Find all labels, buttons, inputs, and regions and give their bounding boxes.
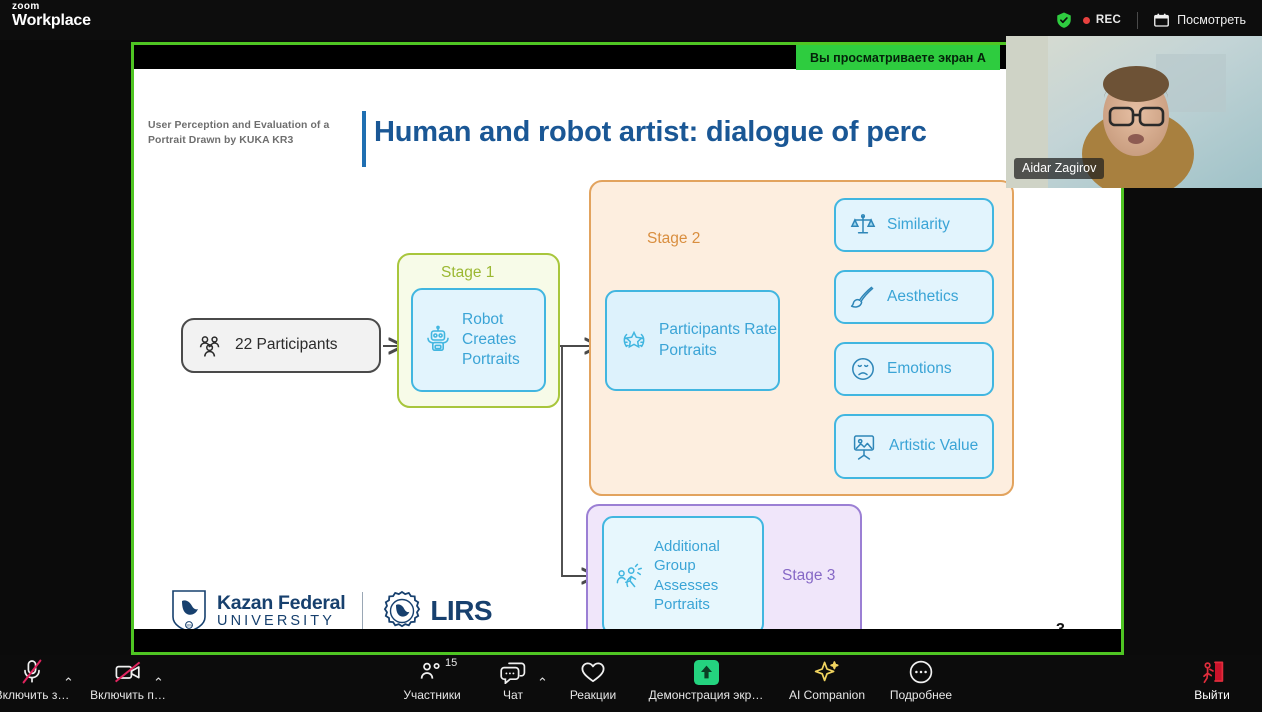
metric-label: Emotions: [887, 359, 952, 379]
leave-meeting-button[interactable]: Выйти: [1180, 659, 1244, 702]
video-participant-name: Aidar Zagirov: [1014, 158, 1104, 179]
kfu-line2: UNIVERSITY: [217, 614, 345, 629]
group-assess-icon: [614, 560, 646, 592]
chat-icon: [499, 659, 527, 685]
node-label: Robot Creates Portraits: [462, 310, 544, 370]
toolbar-label: Реакции: [570, 688, 616, 702]
metric-label: Aesthetics: [887, 287, 959, 307]
toolbar-item-ai-companion[interactable]: AI Companion: [779, 659, 875, 702]
toolbar-label: Чат: [503, 688, 523, 702]
leave-door-icon: [1199, 659, 1225, 685]
microphone-muted-icon: [20, 659, 44, 685]
paintbrush-icon: [850, 284, 876, 310]
kfu-line1: Kazan Federal: [217, 594, 345, 614]
more-dots-icon: [908, 659, 934, 685]
lirs-gear-icon: [380, 589, 424, 629]
video-options-caret-icon[interactable]: ⌃: [153, 675, 164, 691]
svg-text:1804: 1804: [185, 624, 193, 628]
presentation-slide: User Perception and Evaluation of a Port…: [134, 69, 1121, 629]
toolbar-item-more[interactable]: Подробнее: [873, 659, 969, 702]
metric-artistic-value: Artistic Value: [834, 414, 994, 479]
view-button[interactable]: Посмотреть: [1154, 13, 1246, 27]
node-22-participants: 22 Participants: [181, 318, 381, 373]
zoom-meeting-window: zoom Workplace REC Посмотреть: [0, 0, 1262, 712]
toolbar-label: AI Companion: [789, 688, 865, 702]
toolbar-label: Демонстрация экр…: [649, 688, 764, 702]
kfu-wordmark: Kazan Federal UNIVERSITY: [217, 594, 345, 628]
recording-indicator[interactable]: REC: [1083, 14, 1121, 26]
camera-muted-icon: [114, 659, 142, 685]
shield-check-icon[interactable]: [1055, 11, 1073, 29]
meeting-toolbar: Включить з… ⌃ Включить п… ⌃ 15: [0, 655, 1262, 712]
node-label: Additional Group Assesses Portraits: [654, 537, 762, 615]
process-diagram: Stage 1 Stage 2 Stage 3 22 Participants: [134, 69, 1121, 629]
metric-similarity: Similarity: [834, 198, 994, 252]
toolbar-item-share-screen[interactable]: Демонстрация экр…: [656, 659, 756, 702]
kfu-crest-icon: 1804: [170, 589, 208, 629]
sad-face-icon: [850, 356, 876, 382]
toolbar-label: Участники: [403, 688, 460, 702]
zoom-brand-line1: zoom: [12, 2, 91, 13]
shared-screen-frame: Вы просматриваете экран A User Perceptio…: [131, 42, 1124, 655]
recording-label: REC: [1096, 14, 1121, 26]
ai-sparkle-icon: [814, 659, 840, 685]
participants-icon: 15: [419, 659, 445, 685]
top-bar-right-cluster: REC Посмотреть: [1055, 0, 1254, 40]
participants-group-icon: [197, 333, 223, 359]
metric-emotions: Emotions: [834, 342, 994, 396]
participants-count-badge: 15: [445, 657, 457, 669]
view-label: Посмотреть: [1177, 13, 1246, 27]
lirs-wordmark: LIRS: [430, 595, 492, 627]
share-screen-icon: [693, 659, 720, 685]
scales-balance-icon: [850, 212, 876, 238]
robot-icon: [423, 325, 453, 355]
node-label: Participants Rate Portraits: [659, 320, 778, 360]
node-label: 22 Participants: [235, 335, 338, 355]
video-thumbnail-aidar-zagirov[interactable]: Aidar Zagirov: [1006, 36, 1262, 188]
metric-label: Similarity: [887, 215, 950, 235]
toolbar-label: Подробнее: [890, 688, 952, 702]
mic-options-caret-icon[interactable]: ⌃: [63, 675, 74, 691]
calendar-icon: [1154, 13, 1169, 27]
stage1-label: Stage 1: [441, 264, 494, 282]
top-bar: zoom Workplace REC Посмотреть: [0, 0, 1262, 40]
top-bar-divider: [1137, 12, 1138, 29]
node-participants-rate-portraits: Participants Rate Portraits: [605, 290, 780, 391]
laurel-star-icon: [618, 325, 650, 357]
framed-picture-icon: [850, 433, 878, 461]
node-additional-group-assesses-portraits: Additional Group Assesses Portraits: [602, 516, 764, 629]
heart-icon: [580, 659, 606, 685]
toolbar-item-reactions[interactable]: Реакции: [545, 659, 641, 702]
footer-logos: 1804 Kazan Federal UNIVERSITY LIRS: [170, 589, 492, 629]
metric-label: Artistic Value: [889, 436, 978, 456]
zoom-brand-line2: Workplace: [12, 13, 91, 30]
logo-divider: [362, 592, 363, 629]
metric-aesthetics: Aesthetics: [834, 270, 994, 324]
stage3-label: Stage 3: [782, 567, 835, 585]
node-robot-creates-portraits: Robot Creates Portraits: [411, 288, 546, 392]
stage2-label: Stage 2: [647, 230, 700, 248]
screen-share-banner: Вы просматриваете экран A: [796, 45, 1000, 70]
leave-label: Выйти: [1194, 688, 1230, 702]
toolbar-label: Включить з…: [0, 688, 69, 702]
record-dot-icon: [1083, 17, 1090, 24]
zoom-workplace-logo: zoom Workplace: [12, 2, 91, 29]
